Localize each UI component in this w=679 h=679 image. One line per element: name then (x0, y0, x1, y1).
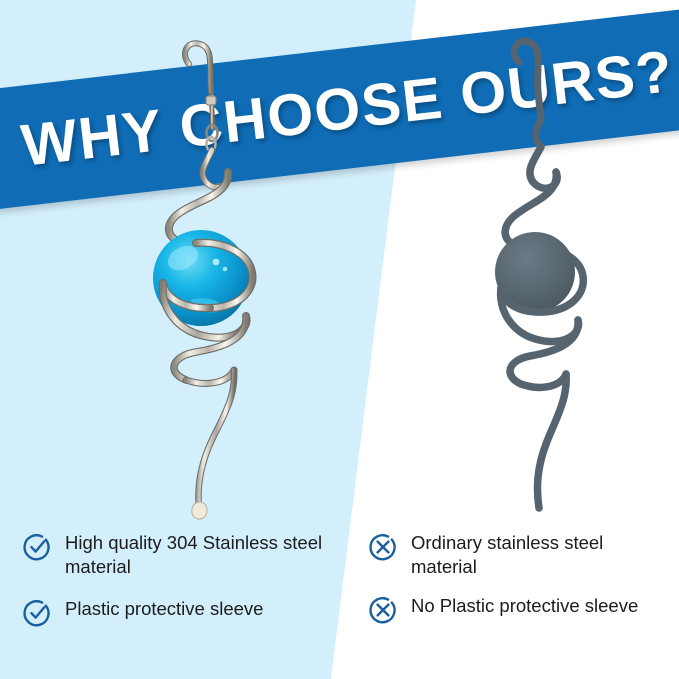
list-item: High quality 304 Stainless steel materia… (22, 531, 334, 580)
right-feature-list: Ordinary stainless steel material No Pla… (368, 531, 668, 625)
list-item-label: Ordinary stainless steel material (411, 531, 668, 580)
list-item: No Plastic protective sleeve (368, 594, 668, 625)
comparison-infographic: WHY CHOOSE OURS? (0, 0, 679, 679)
x-circle-icon (368, 532, 398, 562)
list-item: Plastic protective sleeve (22, 597, 334, 628)
list-item-label: No Plastic protective sleeve (411, 594, 638, 618)
check-circle-icon (22, 532, 52, 562)
x-circle-icon (368, 595, 398, 625)
list-item: Ordinary stainless steel material (368, 531, 668, 580)
list-item-label: High quality 304 Stainless steel materia… (65, 531, 334, 580)
check-circle-icon (22, 598, 52, 628)
left-feature-list: High quality 304 Stainless steel materia… (22, 531, 334, 628)
list-item-label: Plastic protective sleeve (65, 597, 263, 621)
